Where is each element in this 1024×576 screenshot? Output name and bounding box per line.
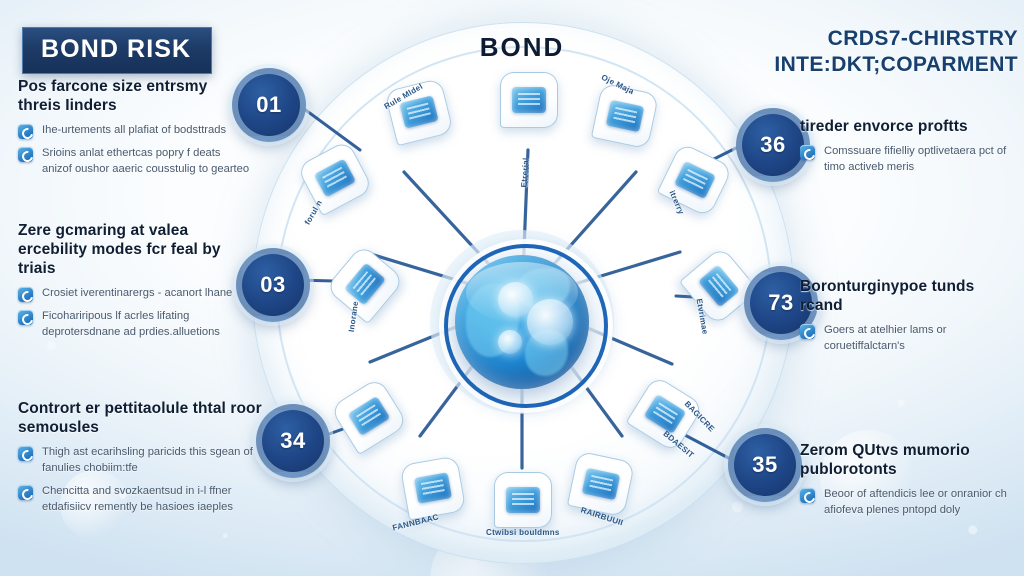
bullet-icon bbox=[800, 488, 815, 503]
node-icon bbox=[314, 159, 356, 198]
node-card[interactable] bbox=[494, 472, 552, 528]
list-item-text: Crosiet iverentinarergs - acanort lhane bbox=[42, 287, 232, 299]
list-item-text: Ihe-urtements all plafiat of bodsttrads bbox=[42, 124, 226, 136]
list-item: Crosiet iverentinarergs - acanort lhane bbox=[18, 286, 250, 302]
block-heading: Zere gcmaring at valea ercebility modes … bbox=[18, 222, 250, 279]
list-item-text: Comssuare fifielliy optlivetaera pct of … bbox=[824, 145, 1006, 173]
right-block-3: Zerom QUtvs mumorio publorotonts Beoor o… bbox=[800, 442, 1016, 526]
left-block-3: Contrort er pettitaolule thtal roor semo… bbox=[18, 400, 270, 522]
bullet-icon bbox=[18, 310, 33, 325]
block-heading: tireder envorce proftts bbox=[800, 118, 1016, 137]
block-heading: Contrort er pettitaolule thtal roor semo… bbox=[18, 400, 270, 438]
bullet-icon bbox=[18, 446, 33, 461]
node-icon bbox=[674, 161, 716, 199]
block-bullets: Comssuare fifielliy optlivetaera pct of … bbox=[800, 144, 1016, 176]
center-title: BOND bbox=[252, 32, 792, 63]
world-globe-icon bbox=[455, 255, 589, 389]
list-item: Thigh ast ecarihsling paricids this sgea… bbox=[18, 445, 270, 477]
list-item: Ficohariripous lf acrles lifating deprot… bbox=[18, 309, 250, 341]
node-icon bbox=[348, 396, 391, 436]
node-card[interactable] bbox=[567, 451, 635, 518]
node-card[interactable] bbox=[500, 72, 558, 128]
step-circle-35[interactable]: 35 bbox=[728, 428, 802, 502]
node-icon bbox=[698, 265, 740, 308]
left-block-2: Zere gcmaring at valea ercebility modes … bbox=[18, 222, 250, 347]
node-icon bbox=[582, 468, 621, 501]
node-card[interactable] bbox=[400, 455, 467, 520]
list-item-text: Chencitta and svozkaentsud in i-l ffner … bbox=[42, 485, 233, 513]
step-number: 35 bbox=[752, 452, 777, 478]
block-bullets: Beoor of aftendicis lee or onranior ch a… bbox=[800, 487, 1016, 519]
list-item-text: Thigh ast ecarihsling paricids this sgea… bbox=[42, 446, 253, 474]
page-title-banner: BOND RISK bbox=[22, 27, 212, 74]
node-icon bbox=[644, 394, 687, 434]
right-block-1: tireder envorce proftts Comssuare fifiel… bbox=[800, 118, 1016, 183]
block-bullets: Crosiet iverentinarergs - acanort lhane … bbox=[18, 286, 250, 341]
bullet-icon bbox=[800, 324, 815, 339]
right-block-2: Boronturginypoe tunds rcand Goers at ate… bbox=[800, 278, 1016, 362]
list-item-text: Ficohariripous lf acrles lifating deprot… bbox=[42, 310, 220, 338]
block-bullets: Goers at atelhier lams or coruetiffalcta… bbox=[800, 323, 1016, 355]
list-item: Ihe-urtements all plafiat of bodsttrads bbox=[18, 123, 250, 139]
step-number: 03 bbox=[260, 272, 285, 298]
node-icon bbox=[512, 87, 546, 113]
bullet-icon bbox=[18, 124, 33, 139]
list-item: Srioins anlat ethertcas popry f deats an… bbox=[18, 146, 250, 178]
right-title-line-2: INTE:DKT;COPARMENT bbox=[712, 52, 1018, 78]
step-number: 36 bbox=[760, 132, 785, 158]
list-item-text: Goers at atelhier lams or coruetiffalcta… bbox=[824, 324, 947, 352]
list-item: Chencitta and svozkaentsud in i-l ffner … bbox=[18, 484, 270, 516]
block-heading: Boronturginypoe tunds rcand bbox=[800, 278, 1016, 316]
block-heading: Pos farcone size entrsmy threis Iinders bbox=[18, 78, 250, 116]
list-item-text: Beoor of aftendicis lee or onranior ch a… bbox=[824, 488, 1007, 516]
block-heading: Zerom QUtvs mumorio publorotonts bbox=[800, 442, 1016, 480]
right-title-line-1: CRDS7-CHIRSTRY bbox=[712, 26, 1018, 52]
block-bullets: Ihe-urtements all plafiat of bodsttrads … bbox=[18, 123, 250, 178]
list-item: Goers at atelhier lams or coruetiffalcta… bbox=[800, 323, 1016, 355]
node-card-label: Ctwibsi bouldmns bbox=[486, 528, 560, 537]
list-item-text: Srioins anlat ethertcas popry f deats an… bbox=[42, 147, 249, 175]
globe-gloss bbox=[466, 262, 579, 324]
globe-badge bbox=[498, 330, 522, 354]
node-icon bbox=[506, 487, 540, 513]
infographic-canvas: BOND forul n Rule Mldel Etrerial Oje Maj… bbox=[0, 0, 1024, 576]
step-number: 34 bbox=[280, 428, 305, 454]
list-item: Beoor of aftendicis lee or onranior ch a… bbox=[800, 487, 1016, 519]
bullet-icon bbox=[800, 145, 815, 160]
bullet-icon bbox=[18, 287, 33, 302]
list-item: Comssuare fifielliy optlivetaera pct of … bbox=[800, 144, 1016, 176]
node-icon bbox=[344, 263, 386, 306]
bullet-icon bbox=[18, 147, 33, 162]
block-bullets: Thigh ast ecarihsling paricids this sgea… bbox=[18, 445, 270, 516]
step-circle-36[interactable]: 36 bbox=[736, 108, 810, 182]
bullet-icon bbox=[18, 485, 33, 500]
node-icon bbox=[414, 472, 452, 504]
step-number: 73 bbox=[768, 290, 793, 316]
step-number: 01 bbox=[256, 92, 281, 118]
node-icon bbox=[606, 100, 645, 133]
left-block-1: Pos farcone size entrsmy threis Iinders … bbox=[18, 78, 250, 185]
right-section-title: CRDS7-CHIRSTRY INTE:DKT;COPARMENT bbox=[712, 26, 1018, 77]
